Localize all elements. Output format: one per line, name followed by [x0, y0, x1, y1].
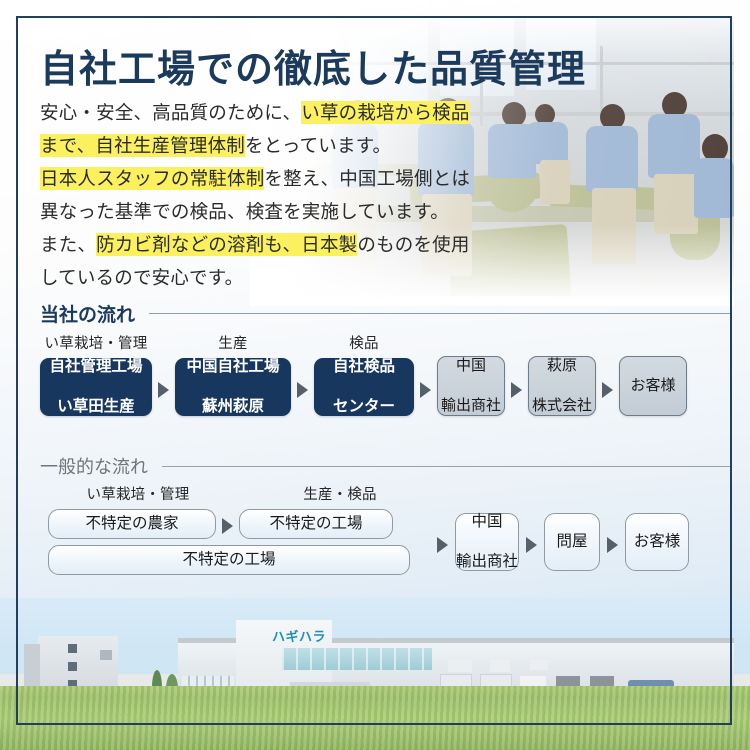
flow-step: .お客様: [619, 335, 687, 416]
general-flow-heading-label: 一般的な流れ: [40, 453, 148, 479]
flow-step: 生産中国自社工場蘇州萩原: [175, 332, 291, 416]
body-line: まで、自社生産管理体制をとっています。: [40, 129, 510, 162]
flow-arrow-icon: [222, 518, 233, 534]
flow-box-line: 萩原: [547, 356, 577, 376]
flow-box-line: い草田生産: [57, 397, 135, 417]
flow-box-3: 自社検品センター: [314, 358, 414, 416]
flow-box-4: 中国輸出商社: [437, 356, 505, 416]
flow-box-factory-bottom: 不特定の工場: [48, 545, 410, 575]
infographic-page: 自社工場での徹底した品質管理 安心・安全、高品質のために、い草の栽培から検品まで…: [0, 0, 750, 750]
plain-text: また、: [40, 234, 96, 255]
flow-box-line: 中国: [471, 512, 502, 532]
heading-rule: [149, 313, 730, 314]
flow-step-caption: 生産: [218, 332, 247, 353]
highlighted-text: 自社生産管理体制: [95, 134, 245, 157]
flow-box-farm: 不特定の農家: [48, 509, 216, 539]
general-flow-row: い草栽培・管理生産・検品不特定の農家不特定の工場不特定の工場中国輸出商社問屋お客…: [48, 483, 689, 575]
general-flow-captions: い草栽培・管理生産・検品: [48, 483, 430, 509]
body-line: 異なった基準での検品、検査を実施しています。: [40, 195, 510, 228]
highlighted-text: 日本人スタッフの常駐体制: [40, 167, 264, 190]
flow-box-line: お客様: [630, 376, 675, 396]
plain-text: 異なった基準での検品、検査を実施しています。: [40, 201, 449, 222]
own-flow-row: い草栽培・管理自社管理工場い草田生産生産中国自社工場蘇州萩原検品自社検品センター…: [40, 332, 687, 416]
flow-step-caption: 生産・検品: [250, 483, 430, 504]
flow-arrow-icon: [526, 537, 537, 553]
factory-building-photo: ハギハラ: [0, 598, 750, 750]
flow-box-1: 自社管理工場い草田生産: [40, 358, 152, 416]
flow-box-line: センター: [333, 397, 395, 417]
flow-arrow-icon: [158, 382, 169, 398]
highlighted-text: まで、: [40, 134, 95, 157]
flow-arrow-icon: [511, 382, 522, 398]
page-title: 自社工場での徹底した品質管理: [40, 38, 586, 93]
plain-text: を整え、中国工場側とは: [264, 168, 470, 189]
flow-box-factory-top: 不特定の工場: [239, 509, 393, 539]
flow-arrow-icon: [437, 537, 448, 553]
flow-box-2: 中国自社工場蘇州萩原: [175, 358, 291, 416]
flow-arrow-icon: [602, 382, 613, 398]
flow-step: 問屋: [544, 513, 600, 571]
flow-step: お客様: [625, 513, 689, 571]
plain-text: しているので安心です。: [40, 267, 243, 288]
general-flow-heading: 一般的な流れ: [40, 453, 730, 479]
body-paragraph: 安心・安全、高品質のために、い草の栽培から検品まで、自社生産管理体制をとっていま…: [40, 96, 510, 294]
highlighted-text: 日本製: [301, 233, 357, 256]
plain-text: をとっています。: [245, 135, 391, 156]
flow-step: .萩原株式会社: [528, 335, 596, 416]
plain-text: のものを使用: [357, 234, 469, 255]
flow-step: 検品自社検品センター: [314, 332, 414, 416]
flow-step-caption: い草栽培・管理: [45, 332, 148, 353]
body-line: 日本人スタッフの常駐体制を整え、中国工場側とは: [40, 162, 510, 195]
flow-box-line: 不特定の工場: [269, 514, 362, 534]
flow-box-line: 輸出商社: [456, 552, 518, 572]
flow-box-tail-3: お客様: [625, 513, 689, 571]
highlighted-text: い草の栽培から検品: [301, 101, 469, 124]
body-line: また、防カビ剤などの溶剤も、日本製のものを使用: [40, 228, 510, 261]
flow-box-line: 輸出商社: [441, 396, 501, 416]
flow-step: い草栽培・管理自社管理工場い草田生産: [40, 332, 152, 416]
flow-step: .中国輸出商社: [437, 335, 505, 416]
flow-box-line: 不特定の工場: [182, 550, 275, 570]
building-sign: ハギハラ: [272, 626, 326, 645]
general-flow-bottom-row: 不特定の工場: [48, 545, 430, 575]
flow-step: 中国輸出商社: [455, 513, 519, 571]
flow-box-5: 萩原株式会社: [528, 356, 596, 416]
flow-box-line: 問屋: [556, 532, 587, 552]
flow-step-caption: い草栽培・管理: [48, 483, 228, 504]
own-flow-heading: 当社の流れ: [40, 300, 730, 327]
flow-arrow-icon: [607, 537, 618, 553]
flow-box-line: 蘇州萩原: [202, 397, 264, 417]
flow-arrow-icon: [297, 382, 308, 398]
body-line: 安心・安全、高品質のために、い草の栽培から検品: [40, 96, 510, 129]
flow-step-caption: 検品: [349, 332, 378, 353]
flow-box-line: 中国自社工場: [186, 357, 279, 377]
own-flow-heading-label: 当社の流れ: [40, 300, 135, 327]
body-line: しているので安心です。: [40, 261, 510, 294]
flow-box-line: 不特定の農家: [85, 514, 178, 534]
flow-arrow-icon: [420, 382, 431, 398]
flow-box-line: お客様: [634, 532, 681, 552]
flow-box-line: 自社管理工場: [49, 357, 142, 377]
flow-box-line: 株式会社: [532, 396, 592, 416]
flow-box-tail-1: 中国輸出商社: [455, 513, 519, 571]
flow-box-tail-2: 問屋: [544, 513, 600, 571]
general-flow-left-group: い草栽培・管理生産・検品不特定の農家不特定の工場不特定の工場: [48, 483, 430, 575]
flow-box-line: 中国: [456, 356, 486, 376]
general-flow-top-row: 不特定の農家不特定の工場: [48, 509, 430, 539]
flow-box-line: 自社検品: [333, 357, 395, 377]
plain-text: 安心・安全、高品質のために、: [40, 102, 301, 123]
heading-rule: [162, 466, 730, 467]
flow-box-6: お客様: [619, 356, 687, 416]
highlighted-text: 防カビ剤などの溶剤も、: [96, 233, 301, 256]
